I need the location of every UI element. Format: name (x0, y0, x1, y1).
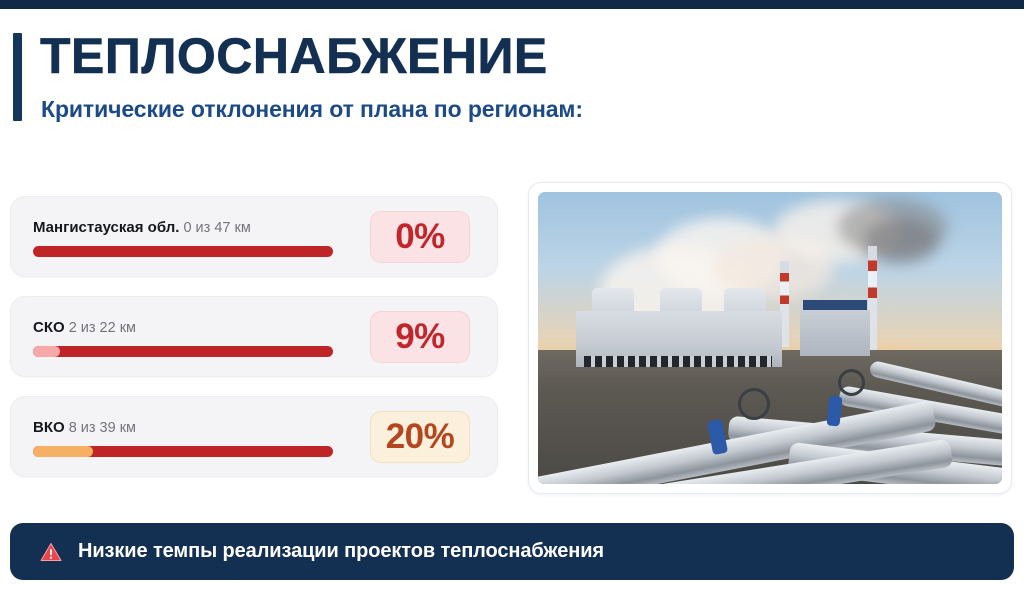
progress-bar-track (33, 346, 333, 357)
top-accent-strip (0, 0, 1024, 9)
progress-bar-track (33, 446, 333, 457)
progress-bar-fill (33, 446, 93, 457)
valve-handwheel (838, 369, 865, 396)
region-card[interactable]: ВКО 8 из 39 км 20% (10, 396, 498, 477)
warning-triangle-icon (40, 542, 62, 562)
page-header: ТЕПЛОСНАБЖЕНИЕ Критические отклонения от… (0, 9, 1024, 164)
percent-badge: 20% (370, 411, 470, 463)
plant-photo-frame (528, 182, 1012, 494)
region-card[interactable]: Мангистауская обл. 0 из 47 км 0% (10, 196, 498, 277)
region-label: Мангистауская обл. 0 из 47 км (33, 219, 251, 237)
plant-block-roof (803, 300, 867, 310)
progress-bar-track (33, 246, 333, 257)
region-card-list: Мангистауская обл. 0 из 47 км 0% СКО 2 и… (10, 196, 498, 496)
region-detail: 0 из 47 км (183, 220, 250, 236)
region-name: Мангистауская обл. (33, 219, 179, 236)
progress-bar-fill (33, 346, 60, 357)
page-title: ТЕПЛОСНАБЖЕНИЕ (40, 27, 548, 85)
header-accent-bar (13, 33, 22, 121)
page-subtitle: Критические отклонения от плана по регио… (41, 94, 583, 124)
region-label: ВКО 8 из 39 км (33, 419, 136, 437)
plant-block (800, 310, 870, 356)
region-detail: 8 из 39 км (69, 420, 136, 436)
percent-badge: 9% (370, 311, 470, 363)
region-card[interactable]: СКО 2 из 22 км 9% (10, 296, 498, 377)
valve-handwheel (738, 388, 770, 420)
percent-badge: 0% (370, 211, 470, 263)
power-plant-photo (538, 192, 1002, 484)
alert-message: Низкие темпы реализации проектов теплосн… (78, 540, 604, 563)
plant-building-windows (584, 356, 772, 367)
region-name: СКО (33, 319, 65, 336)
region-label: СКО 2 из 22 км (33, 319, 136, 337)
region-detail: 2 из 22 км (69, 320, 136, 336)
region-name: ВКО (33, 419, 65, 436)
alert-banner: Низкие темпы реализации проектов теплосн… (10, 523, 1014, 580)
